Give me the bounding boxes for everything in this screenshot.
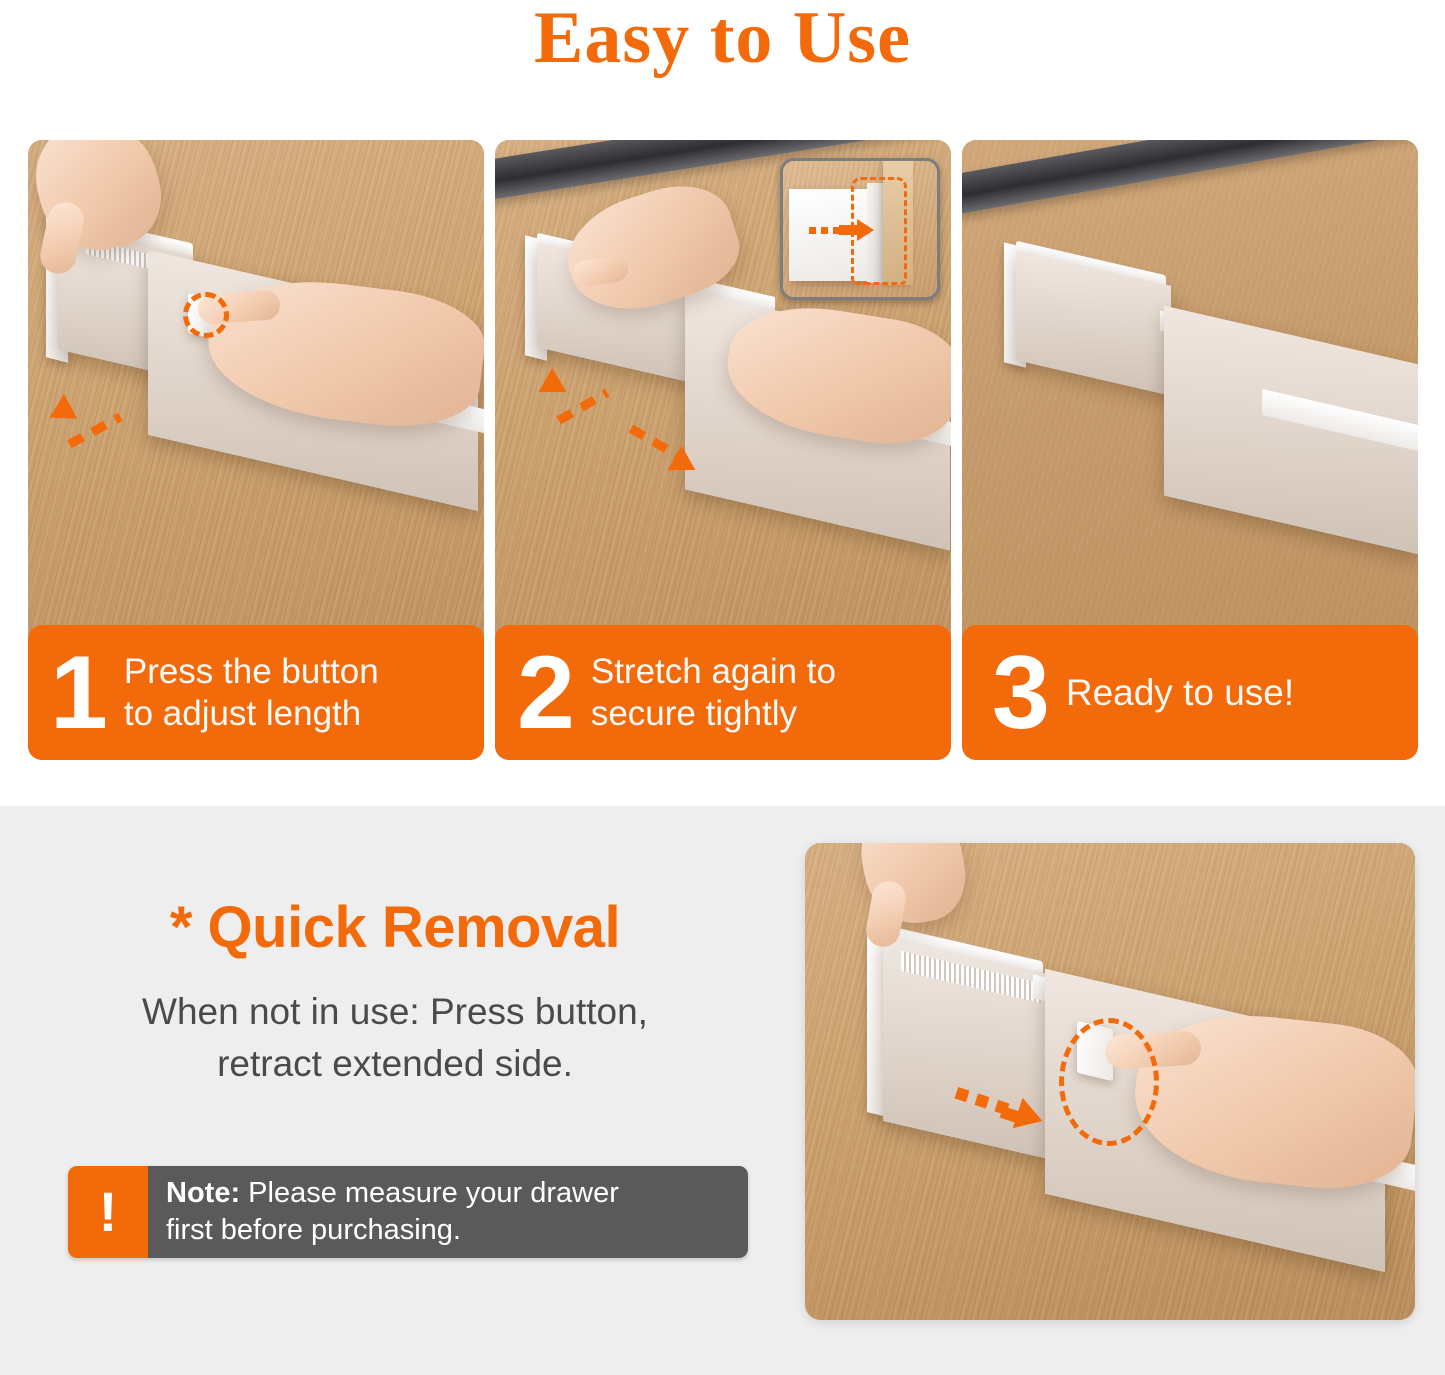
step-1-text: Press the button to adjust length (124, 651, 379, 735)
step-2-line1: Stretch again to (591, 651, 836, 693)
note-line1-text: Please measure your drawer (240, 1177, 619, 1209)
page-title: Easy to Use (0, 0, 1445, 78)
step-3-number: 3 (992, 643, 1048, 743)
step-2-text: Stretch again to secure tightly (591, 651, 836, 735)
step-card-3: 3 Ready to use! (962, 140, 1418, 760)
step-1-line2: to adjust length (124, 693, 379, 735)
note-line2: first before purchasing. (166, 1212, 619, 1249)
infographic-page: Easy to Use 1 (0, 0, 1445, 1375)
steps-row: 1 Press the button to adjust length (28, 140, 1418, 760)
quick-removal-subtitle-line1: When not in use: Press button, (0, 986, 790, 1038)
note-line1: Note: Please measure your drawer (166, 1175, 619, 1212)
step-card-2: 2 Stretch again to secure tightly (495, 140, 951, 760)
step-2-number: 2 (517, 643, 573, 743)
inset-arrow-shaft (839, 225, 859, 235)
step-3-caption: 3 Ready to use! (962, 625, 1418, 760)
inset-arrow-dashes (809, 227, 843, 234)
orange-dashed-circle-removal (1059, 1018, 1159, 1146)
quick-removal-section: * Quick Removal When not in use: Press b… (0, 806, 1445, 1375)
quick-removal-photo (805, 843, 1415, 1320)
step-1-line1: Press the button (124, 651, 379, 693)
step-3-text: Ready to use! (1066, 672, 1294, 714)
quick-removal-subtitle-line2: retract extended side. (0, 1038, 790, 1090)
step-card-1: 1 Press the button to adjust length (28, 140, 484, 760)
step-1-caption: 1 Press the button to adjust length (28, 625, 484, 760)
quick-removal-subtitle: When not in use: Press button, retract e… (0, 986, 790, 1090)
note-banner: ! Note: Please measure your drawer first… (68, 1166, 748, 1258)
exclamation-icon: ! (68, 1166, 148, 1258)
note-text: Note: Please measure your drawer first b… (166, 1175, 619, 1249)
step-2-caption: 2 Stretch again to secure tightly (495, 625, 951, 760)
orange-dashed-circle-on-button (183, 292, 229, 338)
note-body: Note: Please measure your drawer first b… (148, 1166, 748, 1258)
step-2-line2: secure tightly (591, 693, 836, 735)
quick-removal-title: * Quick Removal (0, 896, 790, 960)
note-label: Note: (166, 1177, 240, 1209)
step-3-line1: Ready to use! (1066, 672, 1294, 714)
inset-detail-box (780, 158, 940, 300)
inset-arrow-head-icon (857, 219, 874, 241)
quick-removal-text-block: * Quick Removal When not in use: Press b… (0, 896, 790, 1090)
step-1-number: 1 (50, 643, 106, 743)
